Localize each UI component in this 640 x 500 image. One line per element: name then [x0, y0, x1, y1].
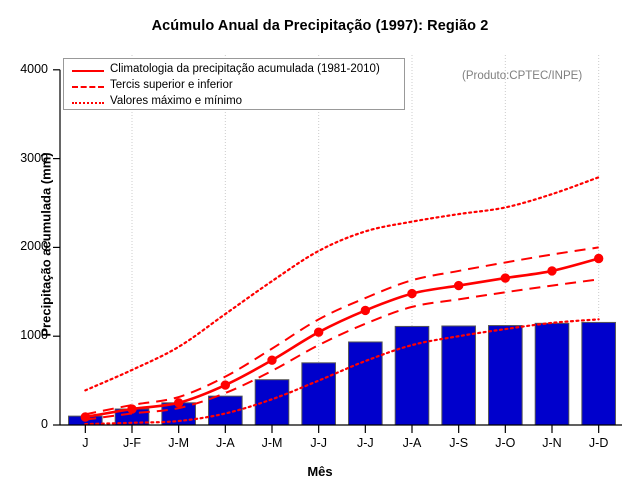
- bar: [302, 363, 336, 425]
- precipitation-chart: Acúmulo Anual da Precipitação (1997): Re…: [0, 0, 640, 500]
- legend: Climatologia da precipitação acumulada (…: [63, 58, 405, 110]
- series-marker: [361, 306, 369, 314]
- y-tick-label: 2000: [4, 239, 48, 253]
- y-tick-label: 1000: [4, 328, 48, 342]
- bar: [349, 342, 383, 425]
- legend-line-dashed-icon: [72, 86, 104, 88]
- y-tick-label: 3000: [4, 151, 48, 165]
- y-tick-label: 4000: [4, 62, 48, 76]
- series-marker: [408, 289, 416, 297]
- series-marker: [268, 356, 276, 364]
- series-markers-group: [81, 254, 603, 421]
- legend-entry-climatology: Climatologia da precipitação acumulada (…: [64, 63, 404, 79]
- bar: [442, 326, 476, 425]
- source-annotation: (Produto:CPTEC/INPE): [462, 70, 582, 82]
- series-marker: [594, 254, 602, 262]
- legend-entry-terciles: Tercis superior e inferior: [64, 79, 404, 95]
- series-marker: [128, 405, 136, 413]
- series-marker: [81, 413, 89, 421]
- legend-label-terciles: Tercis superior e inferior: [110, 79, 233, 91]
- series-marker: [174, 399, 182, 407]
- series-marker: [454, 281, 462, 289]
- bar: [582, 322, 616, 425]
- series-marker: [548, 267, 556, 275]
- series-marker: [501, 274, 509, 282]
- legend-label-extremes: Valores máximo e mínimo: [110, 95, 242, 107]
- bar: [209, 396, 243, 425]
- legend-line-dotted-icon: [72, 102, 104, 104]
- legend-label-climatology: Climatologia da precipitação acumulada (…: [110, 63, 380, 75]
- legend-line-solid-icon: [72, 70, 104, 72]
- bar: [535, 323, 569, 425]
- y-tick-label: 0: [4, 417, 48, 431]
- series-marker: [221, 381, 229, 389]
- legend-entry-extremes: Valores máximo e mínimo: [64, 95, 404, 111]
- series-marker: [314, 328, 322, 336]
- bar: [489, 326, 523, 425]
- bars-group: [69, 322, 616, 425]
- x-tick-label: J-D: [569, 436, 629, 450]
